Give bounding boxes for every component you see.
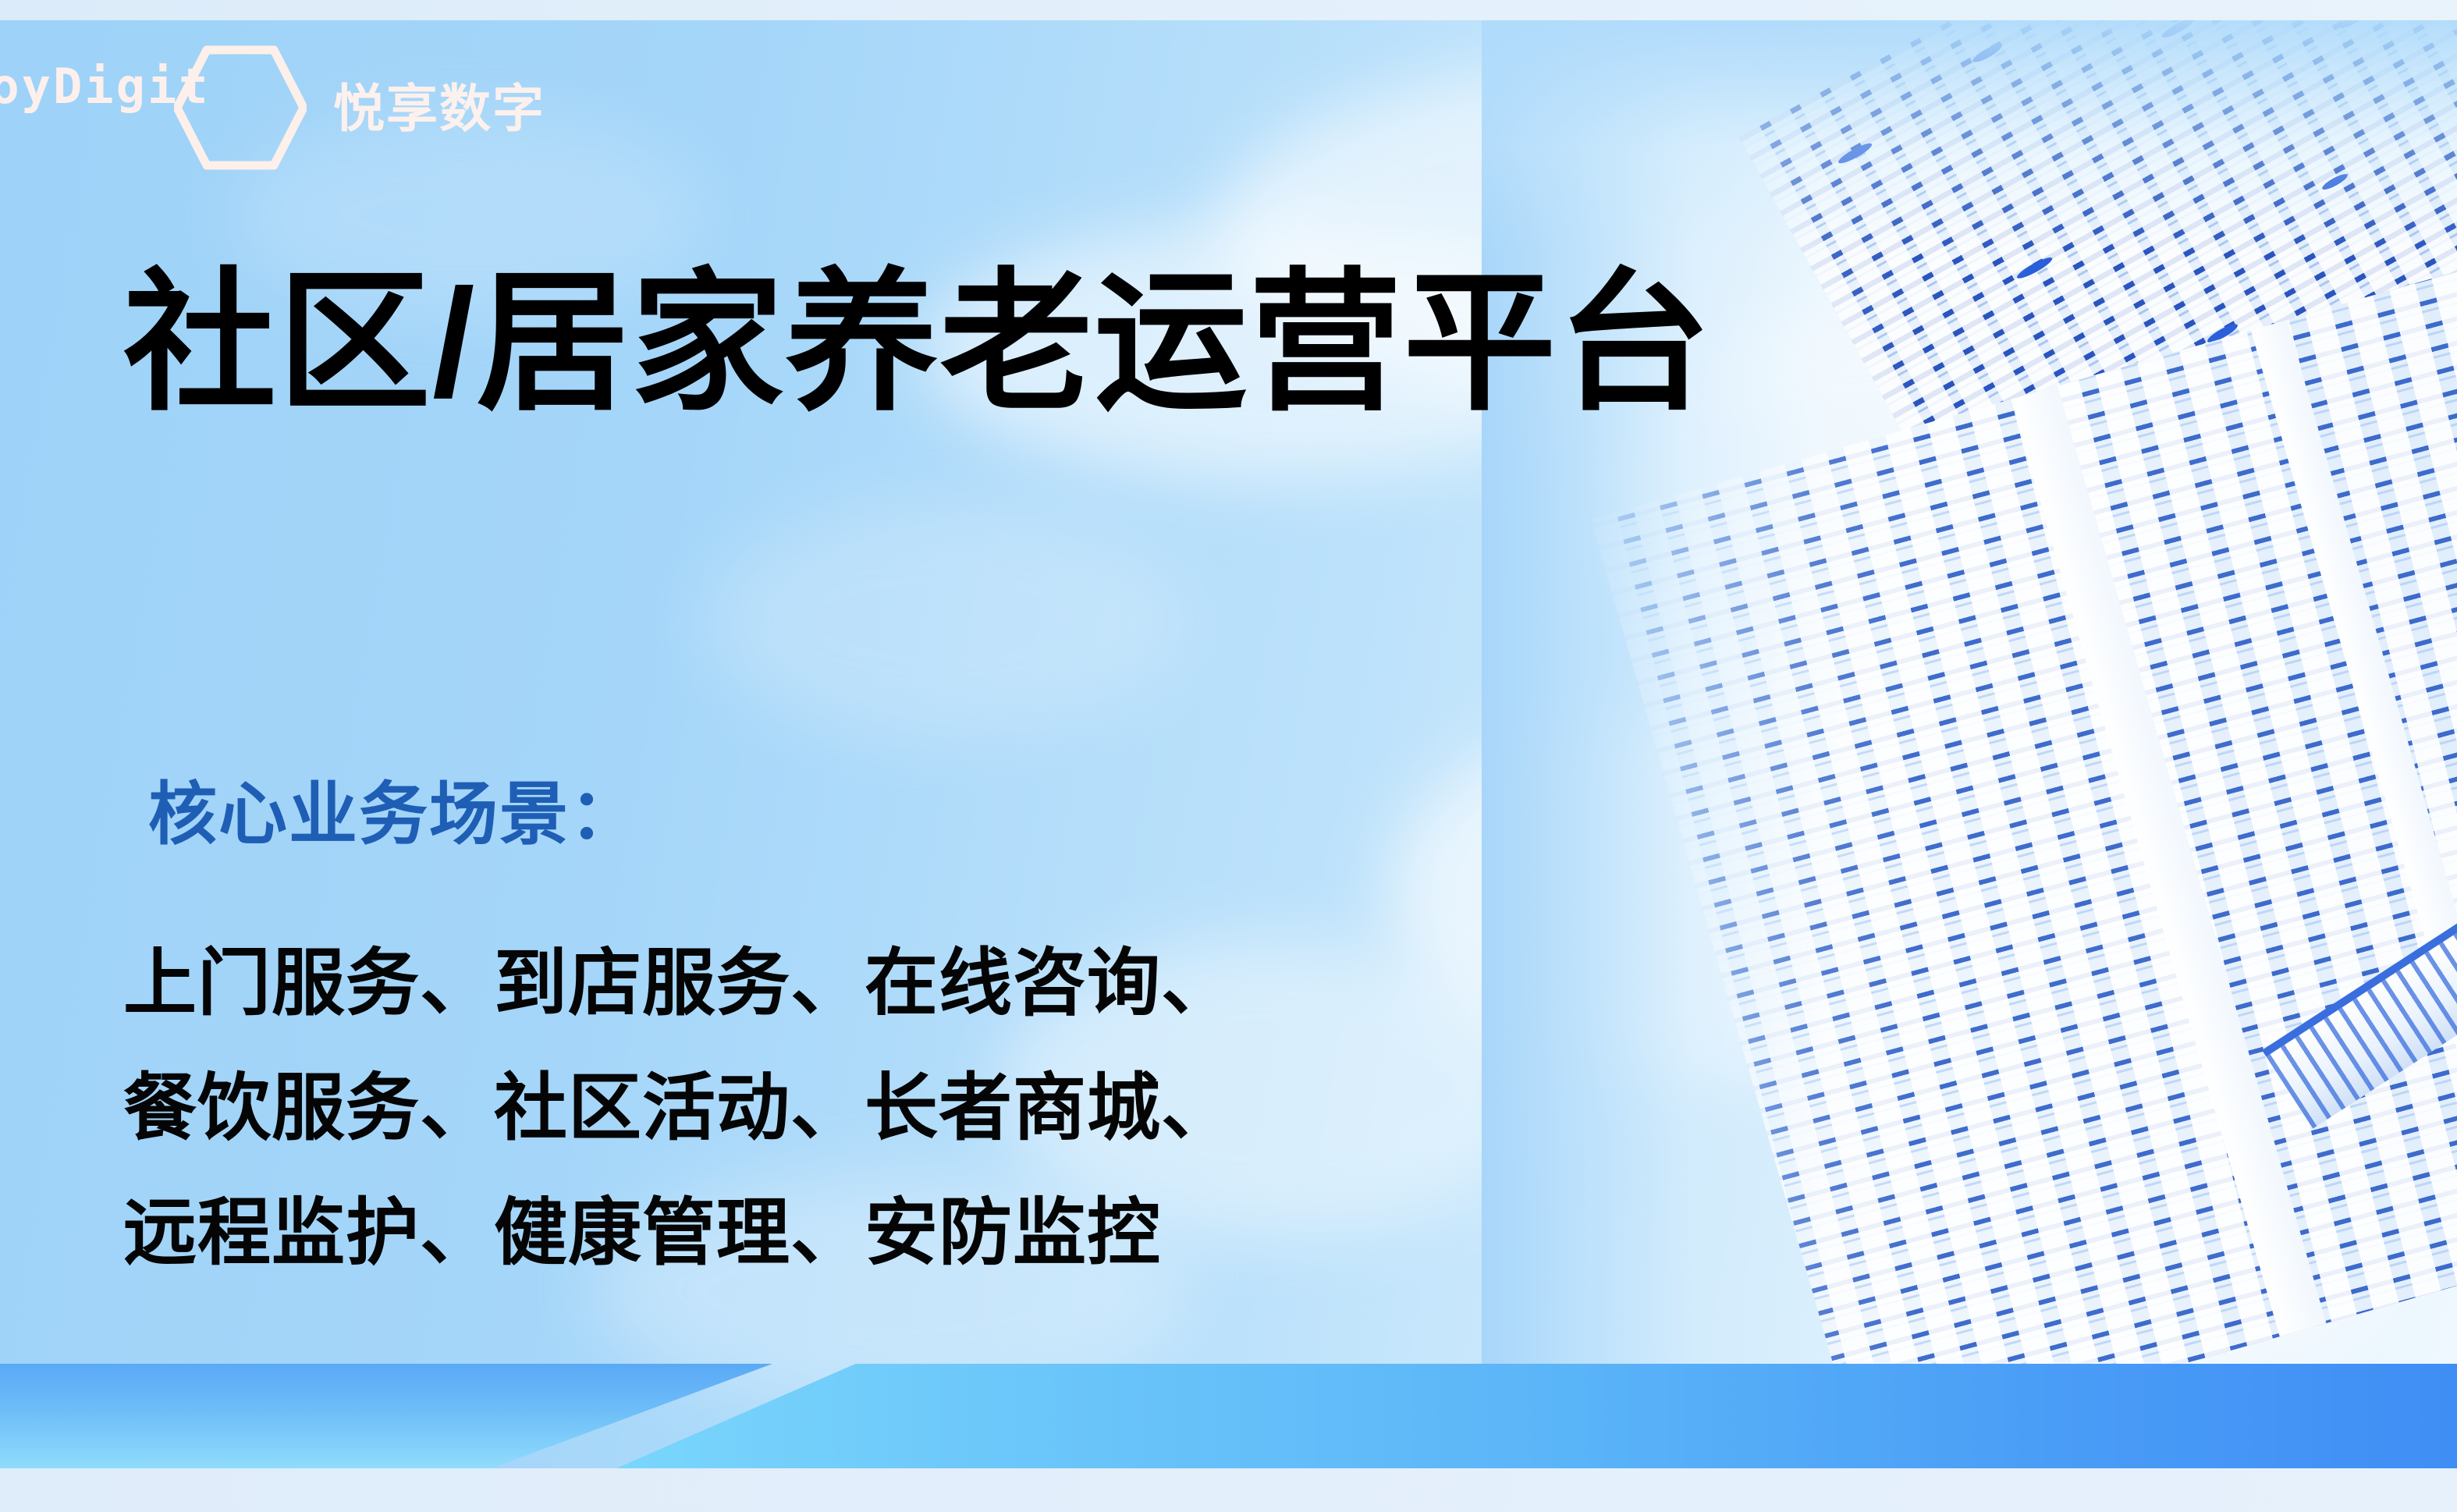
scenario-list: 上门服务、到店服务、在线咨询、 餐饮服务、社区活动、长者商城、 远程监护、健康管… — [123, 921, 1235, 1294]
logo-mark: JoyDigit — [137, 62, 316, 154]
page-title: 社区/居家养老运营平台 — [123, 257, 1712, 429]
scenario-line: 上门服务、到店服务、在线咨询、 — [123, 921, 1235, 1045]
cloud-shape — [1857, 1003, 2403, 1408]
logo-text-en: JoyDigit — [0, 62, 316, 111]
logo-text-cn: 悦享数字 — [333, 83, 545, 134]
slide-canvas: JoyDigit 悦享数字 社区/居家养老运营平台 核心业务场景： 上门服务、到… — [0, 0, 2457, 1512]
cloud-shape — [702, 503, 1186, 737]
brand-logo[interactable]: JoyDigit 悦享数字 — [137, 62, 545, 154]
top-edge-band — [0, 0, 2457, 20]
decoration-band-main — [616, 1364, 2457, 1468]
scenario-line: 远程监护、健康管理、安防监控 — [123, 1170, 1235, 1295]
bottom-edge-band — [0, 1468, 2457, 1512]
scenario-line: 餐饮服务、社区活动、长者商城、 — [123, 1045, 1235, 1170]
section-subheading: 核心业务场景： — [148, 780, 640, 849]
bottom-decoration — [0, 1364, 2457, 1468]
